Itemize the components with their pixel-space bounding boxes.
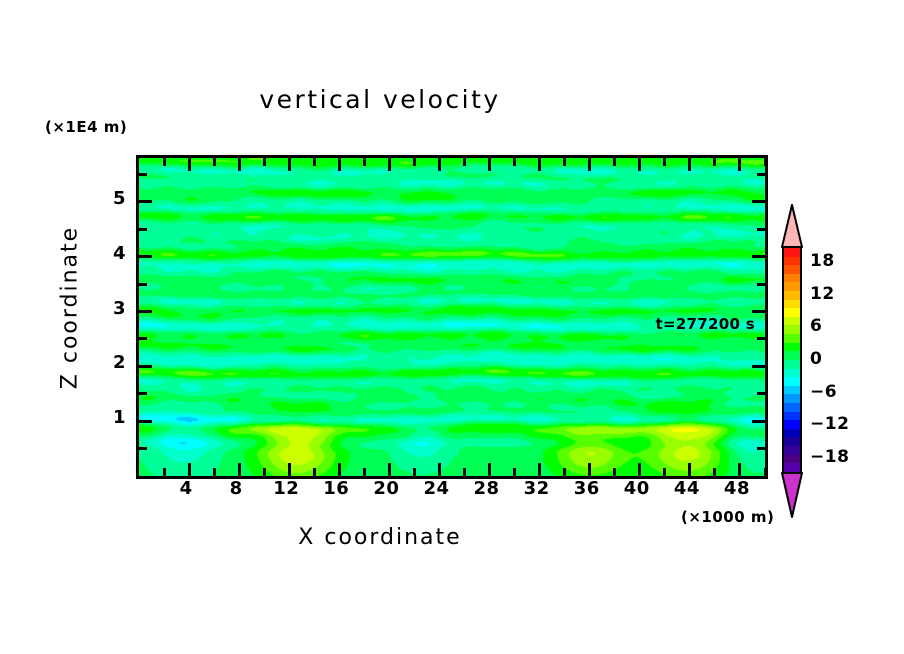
- y-tick-right: [757, 392, 765, 395]
- x-tick-top: [213, 158, 216, 166]
- y-tick-label: 5: [96, 188, 126, 209]
- x-tick-label: 36: [567, 478, 607, 499]
- colorbar-tick-label: 0: [810, 349, 822, 369]
- x-tick-top: [188, 158, 191, 171]
- y-tick: [139, 337, 147, 340]
- x-tick-label: 16: [316, 478, 356, 499]
- colorbar-tick-label: −12: [810, 414, 849, 434]
- y-tick-right: [752, 200, 765, 203]
- x-tick-top: [363, 158, 366, 166]
- x-tick-top: [538, 158, 541, 171]
- x-tick-top: [263, 158, 266, 166]
- x-tick-label: 4: [166, 478, 206, 499]
- colorbar-band: [784, 274, 800, 283]
- page-title: vertical velocity: [0, 85, 760, 114]
- y-tick: [139, 447, 147, 450]
- x-tick-top: [738, 158, 741, 171]
- x-tick: [288, 463, 291, 476]
- colorbar-band: [784, 308, 800, 317]
- x-tick-top: [313, 158, 316, 166]
- colorbar[interactable]: [782, 246, 802, 474]
- colorbar-band: [784, 291, 800, 300]
- x-tick: [363, 468, 366, 476]
- x-tick: [263, 468, 266, 476]
- x-tick: [338, 463, 341, 476]
- y-tick-label: 4: [96, 243, 126, 264]
- colorbar-band: [784, 394, 800, 403]
- colorbar-band: [784, 403, 800, 412]
- y-tick-right: [752, 365, 765, 368]
- y-tick-right: [757, 228, 765, 231]
- y-tick-right: [757, 337, 765, 340]
- y-tick-right: [752, 310, 765, 313]
- y-axis-title: Z coordinate: [58, 198, 83, 418]
- y-tick-right: [757, 173, 765, 176]
- x-tick: [688, 463, 691, 476]
- y-tick: [139, 310, 152, 313]
- y-tick: [139, 365, 152, 368]
- x-tick-top: [288, 158, 291, 171]
- x-tick-top: [488, 158, 491, 171]
- x-tick-top: [613, 158, 616, 166]
- x-tick-top: [563, 158, 566, 166]
- colorbar-band: [784, 455, 800, 464]
- x-tick-top: [638, 158, 641, 171]
- colorbar-tick-label: 12: [810, 284, 835, 304]
- colorbar-band: [784, 369, 800, 378]
- colorbar-band: [784, 437, 800, 446]
- x-tick-top: [413, 158, 416, 166]
- colorbar-band: [784, 351, 800, 360]
- colorbar-tick-label: 18: [810, 251, 835, 271]
- x-tick-top: [438, 158, 441, 171]
- x-tick: [764, 468, 767, 476]
- x-tick-top: [588, 158, 591, 171]
- x-tick-label: 40: [617, 478, 657, 499]
- x-tick-top: [713, 158, 716, 166]
- x-tick-top: [463, 158, 466, 166]
- timestamp-annotation: t=277200 s: [655, 315, 755, 333]
- x-tick-top: [764, 158, 767, 166]
- x-tick-label: 20: [366, 478, 406, 499]
- x-tick-label: 44: [667, 478, 707, 499]
- colorbar-band: [784, 317, 800, 326]
- x-tick: [413, 468, 416, 476]
- colorbar-band: [784, 265, 800, 274]
- x-tick-top: [663, 158, 666, 166]
- colorbar-band: [784, 446, 800, 455]
- x-tick: [538, 463, 541, 476]
- y-tick: [139, 392, 147, 395]
- x-tick-label: 8: [216, 478, 256, 499]
- x-tick: [438, 463, 441, 476]
- y-tick: [139, 173, 147, 176]
- colorbar-band: [784, 257, 800, 266]
- x-tick-top: [513, 158, 516, 166]
- colorbar-band: [784, 248, 800, 257]
- x-tick: [613, 468, 616, 476]
- y-tick: [139, 255, 152, 258]
- colorbar-band: [784, 360, 800, 369]
- colorbar-band: [784, 300, 800, 309]
- colorbar-under-arrow: [781, 472, 803, 518]
- x-tick: [488, 463, 491, 476]
- x-tick: [738, 463, 741, 476]
- y-tick: [139, 420, 152, 423]
- x-tick: [513, 468, 516, 476]
- x-tick-label: 28: [467, 478, 507, 499]
- contour-plot-area[interactable]: t=277200 s: [136, 155, 768, 479]
- x-tick-top: [388, 158, 391, 171]
- colorbar-band: [784, 420, 800, 429]
- y-tick-right: [757, 447, 765, 450]
- y-tick-right: [752, 255, 765, 258]
- x-tick: [163, 468, 166, 476]
- x-tick: [238, 463, 241, 476]
- y-tick-label: 1: [96, 407, 126, 428]
- colorbar-band: [784, 343, 800, 352]
- x-tick: [588, 463, 591, 476]
- y-axis-unit-label: (×1E4 m): [45, 118, 127, 136]
- x-tick: [563, 468, 566, 476]
- x-tick-top: [338, 158, 341, 171]
- colorbar-band: [784, 463, 800, 472]
- x-tick-label: 32: [517, 478, 557, 499]
- x-tick-top: [163, 158, 166, 166]
- x-axis-unit-label: (×1000 m): [681, 508, 774, 526]
- x-tick: [213, 468, 216, 476]
- y-tick-label: 3: [96, 298, 126, 319]
- x-tick-label: 24: [416, 478, 456, 499]
- x-tick-label: 12: [266, 478, 306, 499]
- colorbar-band: [784, 325, 800, 334]
- colorbar-band: [784, 386, 800, 395]
- colorbar-over-arrow: [781, 204, 803, 248]
- y-tick-right: [752, 420, 765, 423]
- x-tick-label: 48: [717, 478, 757, 499]
- x-tick: [388, 463, 391, 476]
- y-tick: [139, 228, 147, 231]
- y-tick: [139, 283, 147, 286]
- x-tick-top: [688, 158, 691, 171]
- x-tick: [663, 468, 666, 476]
- colorbar-tick-label: 6: [810, 316, 822, 336]
- colorbar-tick-label: −18: [810, 447, 849, 467]
- x-axis-title: X coordinate: [0, 525, 760, 550]
- colorbar-band: [784, 334, 800, 343]
- x-tick: [463, 468, 466, 476]
- colorbar-band: [784, 412, 800, 421]
- colorbar-tick-label: −6: [810, 382, 837, 402]
- y-tick-label: 2: [96, 352, 126, 373]
- colorbar-band: [784, 377, 800, 386]
- y-tick: [139, 200, 152, 203]
- y-tick-right: [757, 283, 765, 286]
- colorbar-band: [784, 429, 800, 438]
- x-tick: [188, 463, 191, 476]
- x-tick-top: [238, 158, 241, 171]
- x-tick: [313, 468, 316, 476]
- x-tick: [713, 468, 716, 476]
- colorbar-band: [784, 282, 800, 291]
- x-tick: [638, 463, 641, 476]
